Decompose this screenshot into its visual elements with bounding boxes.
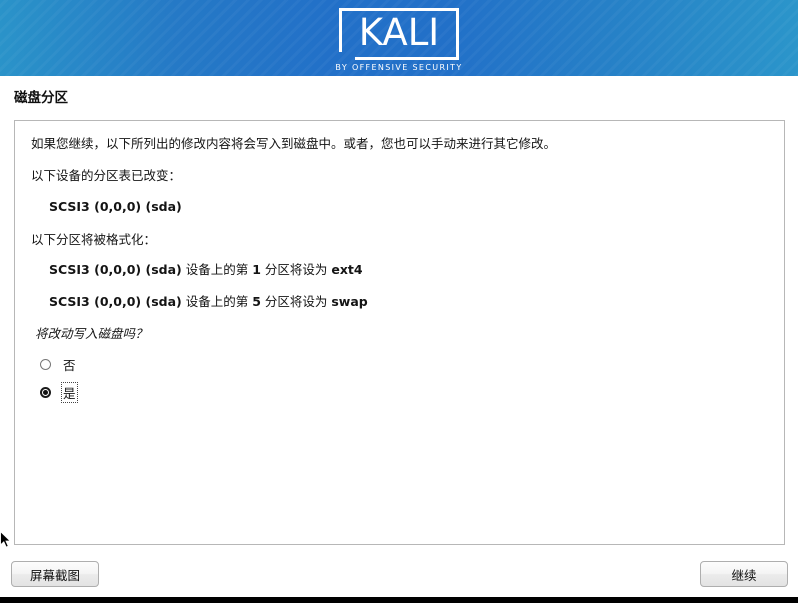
screenshot-button[interactable]: 屏幕截图 xyxy=(11,561,99,587)
mouse-cursor-icon xyxy=(0,531,12,549)
changed-table-heading: 以下设备的分区表已改变： xyxy=(31,167,768,184)
content-panel-inner: 如果您继续，以下所列出的修改内容将会写入到磁盘中。或者，您也可以手动来进行其它修… xyxy=(15,121,784,404)
radio-yes-indicator[interactable] xyxy=(40,387,51,398)
kali-logo-frame: KALI xyxy=(339,8,459,60)
format-entry-mid-text-1: 设备上的第 xyxy=(182,262,252,277)
kali-logo-text: KALI xyxy=(339,10,459,56)
continue-button[interactable]: 继续 xyxy=(700,561,788,587)
radio-option-no[interactable]: 否 xyxy=(40,354,768,376)
format-entry-mid-text-2: 分区将设为 xyxy=(261,262,331,277)
kali-logo: KALI BY OFFENSIVE SECURITY xyxy=(333,8,465,72)
radio-no-label[interactable]: 否 xyxy=(61,354,78,375)
content-panel: 如果您继续，以下所列出的修改内容将会写入到磁盘中。或者，您也可以手动来进行其它修… xyxy=(14,120,785,545)
page-title: 磁盘分区 xyxy=(14,86,68,106)
format-entry-partition-number: 1 xyxy=(252,262,261,277)
confirm-question: 将改动写入磁盘吗？ xyxy=(35,325,768,342)
format-entry-filesystem: swap xyxy=(331,294,367,309)
kali-logo-tagline: BY OFFENSIVE SECURITY xyxy=(333,63,465,72)
format-entry-device: SCSI3 (0,0,0) (sda) xyxy=(49,294,182,309)
format-entry-partition-number: 5 xyxy=(252,294,261,309)
intro-paragraph: 如果您继续，以下所列出的修改内容将会写入到磁盘中。或者，您也可以手动来进行其它修… xyxy=(31,135,768,152)
bottom-black-strip xyxy=(0,597,798,603)
format-entry-mid-text-2: 分区将设为 xyxy=(261,294,331,309)
logo-frame-bottom-edge xyxy=(355,57,459,60)
format-entry-device: SCSI3 (0,0,0) (sda) xyxy=(49,262,182,277)
format-heading: 以下分区将被格式化： xyxy=(31,231,768,248)
format-entry-mid-text-1: 设备上的第 xyxy=(182,294,252,309)
format-entry-filesystem: ext4 xyxy=(331,262,362,277)
radio-no-indicator[interactable] xyxy=(40,359,51,370)
radio-yes-label[interactable]: 是 xyxy=(61,382,78,403)
radio-option-yes[interactable]: 是 xyxy=(40,382,768,404)
installer-header-banner: KALI BY OFFENSIVE SECURITY xyxy=(0,0,798,76)
format-entry-row: SCSI3 (0,0,0) (sda) 设备上的第 1 分区将设为 ext4 xyxy=(49,260,768,279)
format-entry-row: SCSI3 (0,0,0) (sda) 设备上的第 5 分区将设为 swap xyxy=(49,292,768,311)
changed-device-name: SCSI3 (0,0,0) (sda) xyxy=(49,197,768,216)
